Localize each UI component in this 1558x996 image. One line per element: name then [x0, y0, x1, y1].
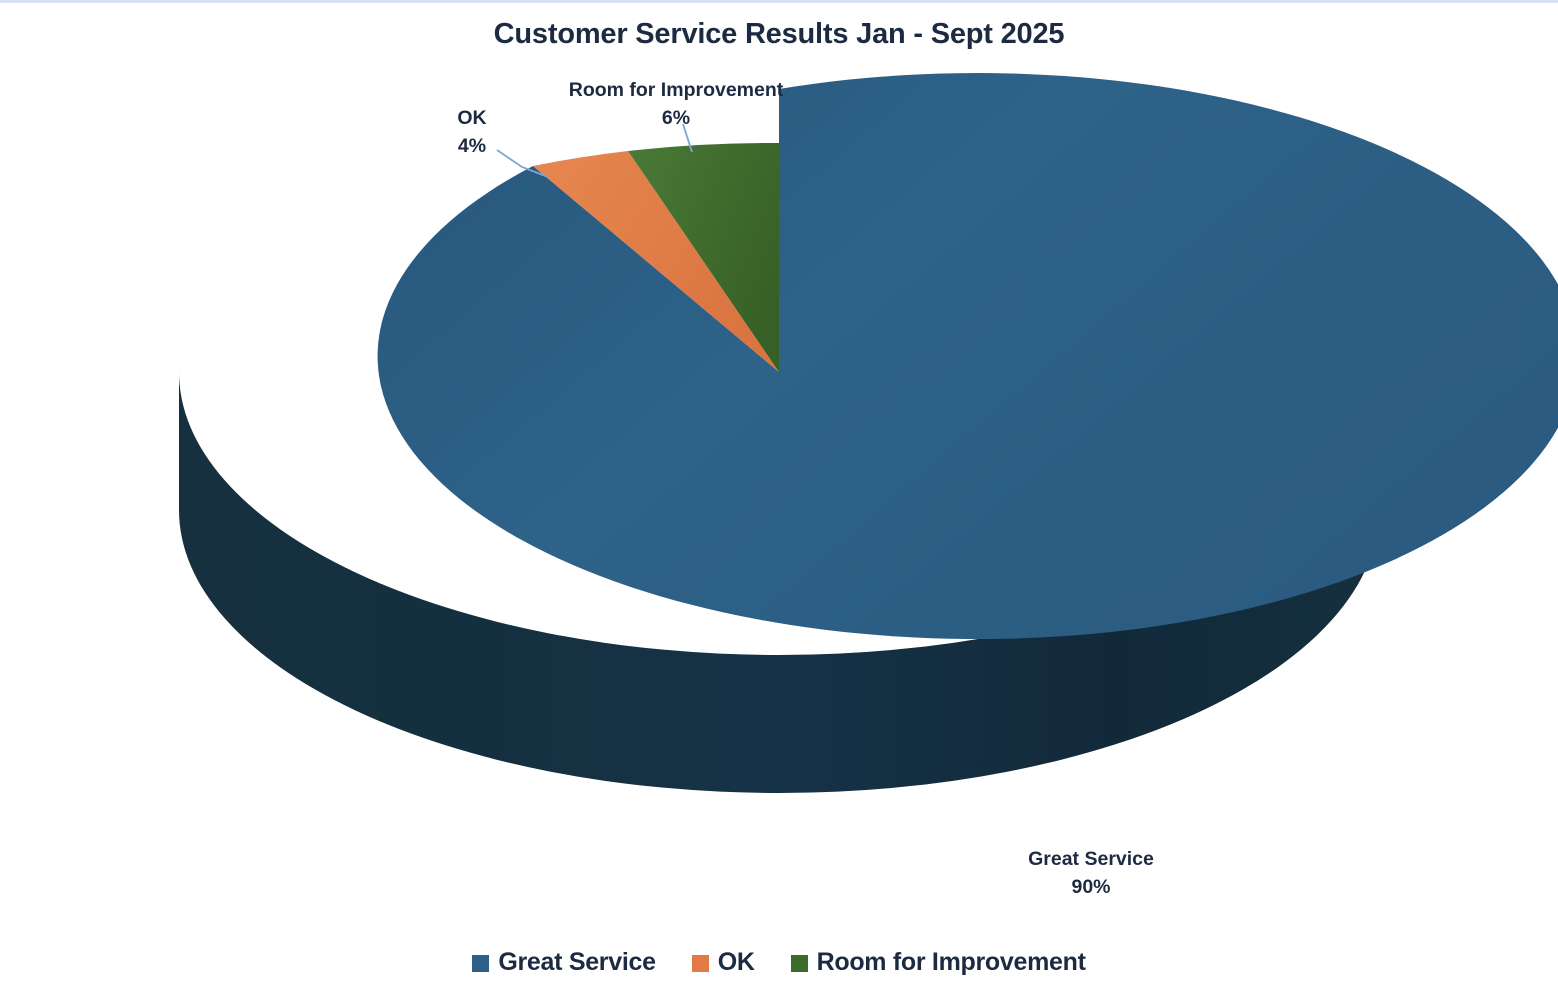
legend-swatch-great-service-icon	[472, 955, 489, 972]
data-label-ok-name: OK	[392, 104, 552, 132]
legend-swatch-ok-icon	[692, 955, 709, 972]
data-label-room-for-improvement: Room for Improvement 6%	[528, 76, 824, 133]
pie-slice-great-service-top	[378, 73, 1558, 639]
legend-label-ok: OK	[718, 948, 755, 977]
pie-chart-container: Customer Service Results Jan - Sept 2025	[0, 0, 1558, 996]
data-label-ok: OK 4%	[392, 104, 552, 161]
data-label-great-name: Great Service	[952, 845, 1230, 873]
data-label-ok-value: 4%	[392, 132, 552, 160]
legend-label-room-for-improvement: Room for Improvement	[817, 948, 1086, 977]
data-label-great-value: 90%	[952, 873, 1230, 901]
data-label-room-name: Room for Improvement	[528, 76, 824, 104]
legend-swatch-room-for-improvement-icon	[791, 955, 808, 972]
legend-item-room-for-improvement[interactable]: Room for Improvement	[791, 948, 1086, 977]
chart-legend: Great Service OK Room for Improvement	[0, 948, 1558, 977]
data-label-great-service: Great Service 90%	[952, 845, 1230, 902]
legend-label-great-service: Great Service	[498, 948, 655, 977]
legend-item-ok[interactable]: OK	[692, 948, 755, 977]
pie-3d-graphic	[0, 0, 1558, 996]
legend-item-great-service[interactable]: Great Service	[472, 948, 655, 977]
data-label-room-value: 6%	[528, 104, 824, 132]
